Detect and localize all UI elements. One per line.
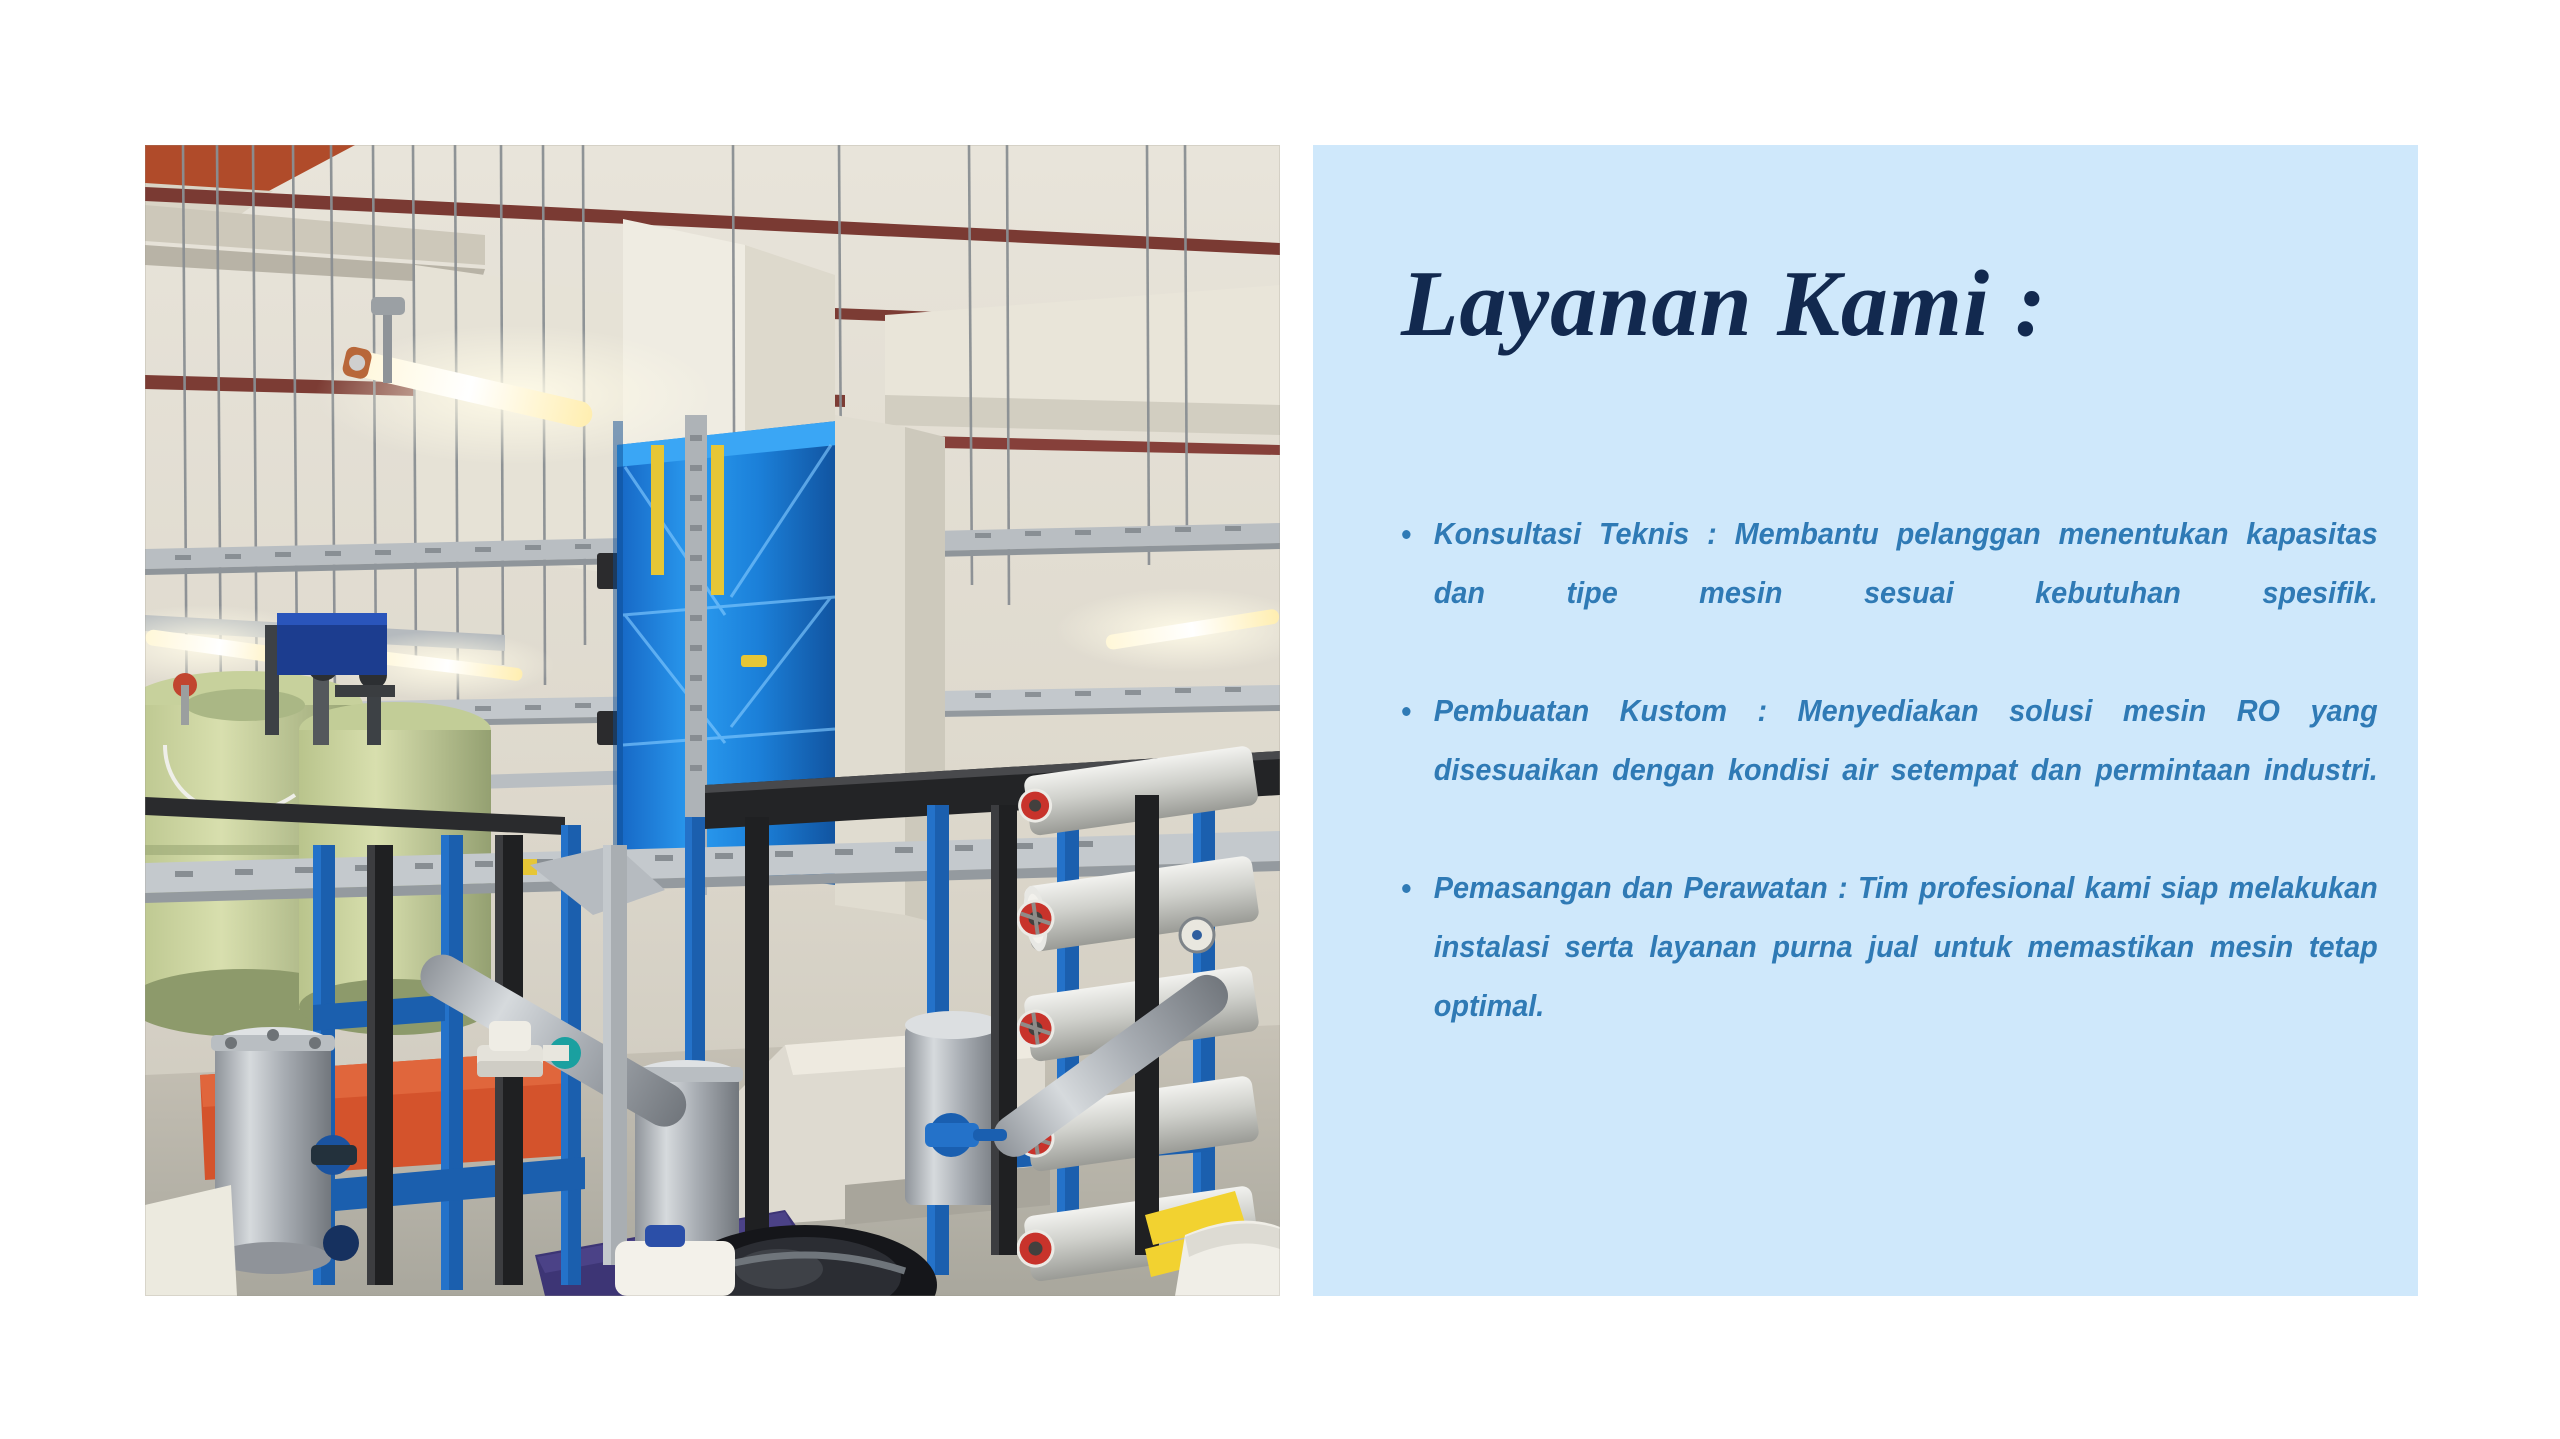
facility-photo <box>145 145 1280 1296</box>
list-item: Pembuatan Kustom : Menyediakan solusi me… <box>1391 681 2378 858</box>
list-item: Pemasangan dan Perawatan : Tim profesion… <box>1391 858 2378 1094</box>
list-item-text: Pemasangan dan Perawatan : Tim profesion… <box>1434 858 2378 1094</box>
services-list: Konsultasi Teknis : Membantu pelanggan m… <box>1391 504 2335 1094</box>
facility-photo-illustration <box>145 145 1280 1296</box>
services-panel: Layanan Kami : Konsultasi Teknis : Memba… <box>1313 145 2418 1296</box>
list-item-text: Konsultasi Teknis : Membantu pelanggan m… <box>1434 504 2378 681</box>
list-item: Konsultasi Teknis : Membantu pelanggan m… <box>1391 504 2378 681</box>
list-item-text: Pembuatan Kustom : Menyediakan solusi me… <box>1434 681 2378 858</box>
slide-canvas: Layanan Kami : Konsultasi Teknis : Memba… <box>0 0 2560 1439</box>
panel-title: Layanan Kami : <box>1401 257 2047 351</box>
